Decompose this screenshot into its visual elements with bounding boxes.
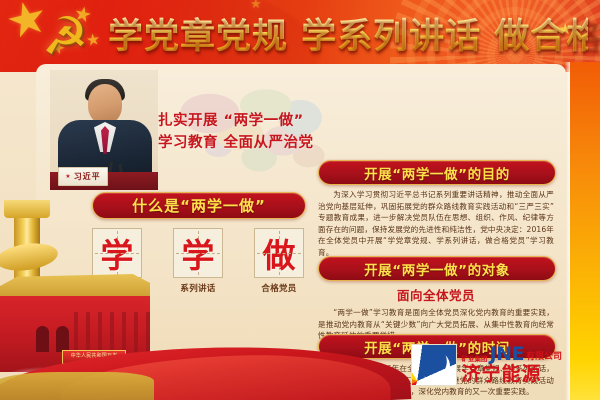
huabiao-wing-icon bbox=[0, 240, 60, 274]
huabiao-top-icon bbox=[4, 200, 50, 218]
character-item: 学 系列讲话 bbox=[173, 228, 223, 294]
section-audience-title: 开展“两学一做”的对象 bbox=[318, 256, 556, 281]
character-caption: 系列讲话 bbox=[174, 282, 222, 294]
right-accent-strip bbox=[570, 62, 600, 400]
logo-prefix: 矿业集团 bbox=[462, 355, 488, 363]
section-audience: 开展“两学一做”的对象 面向全体党员 “两学一做”学习教育是面向全体党员深化党内… bbox=[318, 256, 554, 342]
section-audience-subtitle: 面向全体党员 bbox=[318, 285, 554, 304]
gate-columns bbox=[74, 312, 150, 352]
left-slogan: 扎实开展 “两学一做” 学习教育 全面从严治党 bbox=[158, 110, 358, 154]
section-purpose-body: 为深入学习贯彻习近平总书记系列重要讲话精神，推动全面从严治党向基层延伸，巩固拓展… bbox=[318, 189, 554, 259]
logo-line-1: 矿业集团 JNE 有限公司 bbox=[462, 345, 562, 363]
left-slogan-line1: 扎实开展 “两学一做” bbox=[158, 110, 358, 132]
company-logo: 矿业集团 JNE 有限公司 济宁能源 bbox=[411, 344, 562, 386]
character-caption: 合格党员 bbox=[255, 282, 303, 294]
logo-text: 矿业集团 JNE 有限公司 济宁能源 bbox=[462, 345, 562, 385]
flag-star-icon: ★ bbox=[250, 0, 262, 11]
leader-portrait: 习近平 bbox=[50, 70, 158, 190]
character-item: 做 合格党员 bbox=[254, 228, 304, 294]
portrait-nameplate: 习近平 bbox=[58, 167, 108, 186]
jne-company-mark-icon bbox=[411, 344, 457, 386]
character-glyph: 做 bbox=[255, 229, 303, 277]
portrait-head bbox=[88, 84, 122, 124]
section-purpose: 开展“两学一做”的目的 为深入学习贯彻习近平总书记系列重要讲话精神，推动全面从严… bbox=[318, 160, 554, 259]
character-grid-box: 做 bbox=[254, 228, 304, 278]
foreground-grass bbox=[0, 372, 154, 400]
gate-arch bbox=[56, 326, 69, 352]
character-grid-box: 学 bbox=[173, 228, 223, 278]
left-slogan-line2: 学习教育 全面从严治党 bbox=[158, 132, 358, 154]
page-title: 学党章党规 学系列讲话 做合格党员 bbox=[108, 12, 588, 62]
logo-suffix: 有限公司 bbox=[526, 351, 562, 363]
logo-mark-arc bbox=[420, 351, 450, 381]
logo-company-name: 济宁能源 bbox=[462, 364, 562, 385]
section-purpose-title: 开展“两学一做”的目的 bbox=[318, 160, 556, 185]
character-glyph: 学 bbox=[174, 229, 222, 277]
gate-arch bbox=[36, 326, 49, 352]
party-hammer-sickle-icon: ☭ bbox=[34, 8, 96, 66]
logo-abbr: JNE bbox=[490, 345, 524, 363]
poster-root: ★ ★ ★ ★ ★ ★ ☭ 学党章党规 学系列讲话 做合格党员 习近平 扎实开展… bbox=[0, 0, 600, 400]
header-banner: ★ ★ ★ ★ ★ ★ ☭ 学党章党规 学系列讲话 做合格党员 bbox=[0, 0, 600, 72]
